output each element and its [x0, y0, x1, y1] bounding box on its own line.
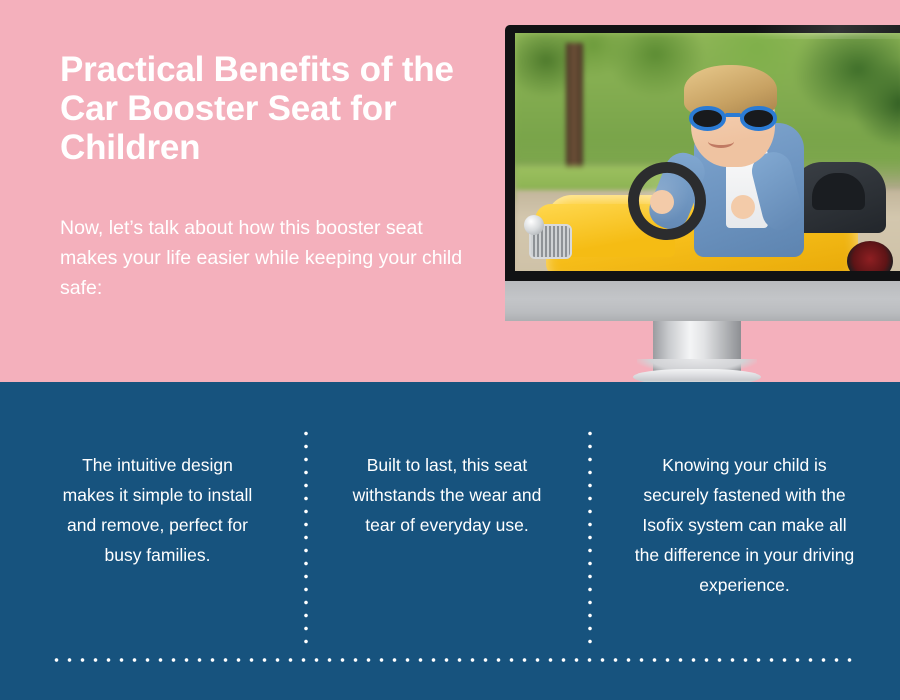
column-divider-1: [304, 427, 308, 647]
screen-illustration: [515, 33, 900, 271]
benefits-columns: The intuitive design makes it simple to …: [0, 382, 900, 652]
child-hand-left: [650, 190, 674, 214]
benefit-text-3: Knowing your child is securely fastened …: [631, 450, 858, 600]
sunglasses-icon: [689, 106, 777, 131]
column-divider-2: [588, 427, 592, 647]
sunglass-bridge: [725, 113, 741, 117]
monitor-screen: [515, 33, 900, 271]
header-panel: Practical Benefits of the Car Booster Se…: [0, 0, 900, 382]
sunglass-lens-left: [689, 106, 726, 131]
benefit-text-1: The intuitive design makes it simple to …: [58, 450, 257, 570]
bottom-divider: [50, 658, 852, 662]
monitor-chin: [505, 281, 900, 321]
sunglass-lens-right: [740, 106, 777, 131]
monitor-bezel: [505, 25, 900, 281]
benefit-column-1: The intuitive design makes it simple to …: [0, 382, 305, 652]
benefit-text-2: Built to last, this seat withstands the …: [345, 450, 549, 540]
infographic-canvas: Practical Benefits of the Car Booster Se…: [0, 0, 900, 700]
tree-trunk: [566, 43, 583, 181]
header-subtitle: Now, let’s talk about how this booster s…: [60, 213, 470, 304]
toy-car-headlight: [524, 215, 544, 235]
benefits-panel: The intuitive design makes it simple to …: [0, 382, 900, 700]
benefit-column-3: Knowing your child is securely fastened …: [589, 382, 900, 652]
page-title: Practical Benefits of the Car Booster Se…: [60, 50, 480, 168]
toy-car-seat: [792, 162, 886, 233]
benefit-column-2: Built to last, this seat withstands the …: [305, 382, 589, 652]
monitor-mockup: [505, 25, 900, 321]
monitor-stand-neck: [653, 321, 741, 371]
